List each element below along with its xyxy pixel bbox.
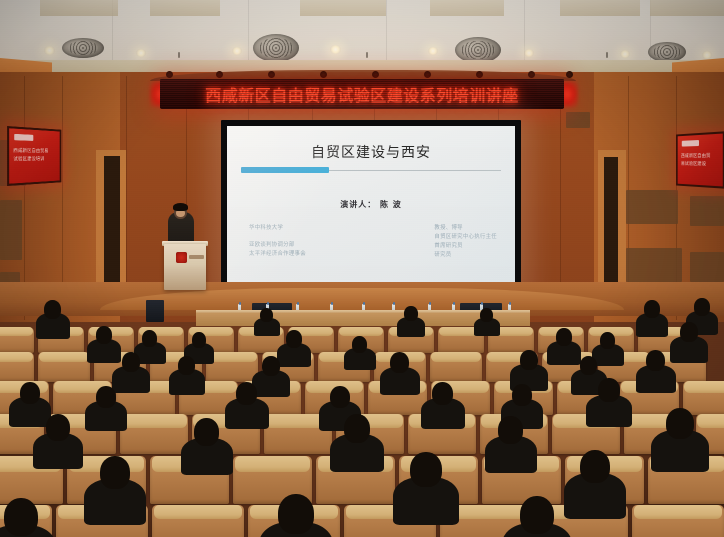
credential-left-0: 华中科技大学 bbox=[249, 224, 306, 233]
side-display-right-line-1: 易试验区建设 bbox=[681, 161, 719, 168]
side-display-right-line-0: 西咸新区自由贸 bbox=[681, 153, 719, 160]
audience-member-head bbox=[680, 322, 698, 342]
speaker-hair bbox=[173, 203, 188, 211]
truss-bolt-2 bbox=[268, 71, 275, 78]
audience-member-head bbox=[20, 382, 40, 404]
audience-member-head bbox=[498, 416, 523, 444]
audience-member-head bbox=[278, 494, 314, 534]
conference-hall-photo: 西咸新区自由贸易试验区建设系列培训讲座 自贸区建设与西安 演讲人： 陈 波 华中… bbox=[0, 0, 724, 537]
audience-member-head bbox=[330, 386, 350, 408]
audience-member-head bbox=[262, 356, 280, 376]
auditorium-seat bbox=[120, 414, 188, 454]
audience-member-head bbox=[260, 308, 273, 322]
side-display-right: 西咸新区自由贸 易试验区建设 bbox=[676, 131, 724, 188]
projection-screen-frame: 自贸区建设与西安 演讲人： 陈 波 华中科技大学 亚欧谈判协调分部 太平洋经济合… bbox=[221, 120, 521, 290]
audience-member-head bbox=[556, 328, 572, 346]
podium bbox=[164, 244, 206, 290]
audience-member-head bbox=[480, 308, 493, 322]
audience-member-head bbox=[666, 408, 694, 439]
ceiling-sprinkler-3 bbox=[480, 50, 482, 56]
audience-member-head bbox=[644, 300, 660, 318]
audience-member-head bbox=[100, 456, 130, 489]
wall-acoustic-panel-3 bbox=[626, 190, 678, 224]
audience-member-head bbox=[194, 418, 219, 446]
audience-member-head bbox=[178, 356, 195, 375]
auditorium-seat bbox=[632, 505, 724, 537]
projection-screen: 自贸区建设与西安 演讲人： 陈 波 华中科技大学 亚欧谈判协调分部 太平洋经济合… bbox=[227, 126, 515, 284]
audience-member-head bbox=[512, 384, 532, 406]
wall-acoustic-panel-4 bbox=[626, 248, 682, 282]
truss-bolt-3 bbox=[320, 71, 327, 78]
slide-credentials-right: 教授、博导 自贸区研究中心执行主任 首席研究员 研究员 bbox=[434, 224, 497, 260]
slide-credentials: 华中科技大学 亚欧谈判协调分部 太平洋经济合作理事会 教授、博导 自贸区研究中心… bbox=[249, 224, 497, 260]
audience-member-head bbox=[44, 300, 61, 319]
wall-acoustic-panel-7 bbox=[566, 112, 590, 128]
ceiling-downlight-3 bbox=[330, 45, 341, 54]
auditorium-seat bbox=[0, 327, 34, 353]
slide-title: 自贸区建设与西安 bbox=[227, 142, 515, 162]
audience-member-head bbox=[646, 350, 665, 371]
ceiling-downlight-0 bbox=[44, 46, 55, 55]
auditorium-seat bbox=[152, 505, 244, 537]
ceiling-downlight-1 bbox=[136, 49, 146, 57]
audience-member-head bbox=[520, 496, 554, 534]
wall-seam-2 bbox=[126, 76, 127, 306]
ceiling-air-vent-0 bbox=[62, 38, 104, 58]
audience-member-head bbox=[694, 298, 710, 316]
ceiling-downlight-4 bbox=[428, 47, 438, 55]
audience-member-head bbox=[580, 450, 610, 483]
ceiling-seam-2 bbox=[386, 0, 387, 62]
truss-bolt-8 bbox=[566, 71, 573, 78]
led-banner-text: 西咸新区自由贸易试验区建设系列培训讲座 bbox=[160, 79, 564, 109]
credential-left-2: 太平洋经济合作理事会 bbox=[249, 250, 306, 259]
ceiling-downlight-7 bbox=[702, 51, 712, 59]
side-display-left-logo bbox=[14, 134, 33, 141]
ceiling-downlight-6 bbox=[620, 50, 630, 58]
ceiling-air-vent-3 bbox=[648, 42, 686, 62]
audience-member-head bbox=[286, 330, 302, 348]
truss-bolt-1 bbox=[216, 71, 223, 78]
wall-acoustic-panel-6 bbox=[690, 252, 724, 282]
audience-member-head bbox=[580, 356, 597, 375]
side-display-left: 西咸新区自由贸易 试验区建设培训 bbox=[7, 126, 61, 186]
auditorium-seat bbox=[38, 352, 90, 382]
ceiling-seam-1 bbox=[248, 0, 249, 62]
credential-right-0: 教授、博导 bbox=[434, 224, 497, 233]
audience-member-head bbox=[96, 386, 116, 408]
auditorium-seat bbox=[0, 352, 34, 382]
credential-right-1: 自贸区研究中心执行主任 bbox=[434, 233, 497, 242]
side-display-left-line-1: 试验区建设培训 bbox=[13, 156, 56, 163]
audience-member-head bbox=[600, 332, 615, 349]
ceiling-strip-panel-0 bbox=[40, 0, 118, 16]
audience-member-head bbox=[352, 336, 367, 353]
ceiling-strip-panel-2 bbox=[300, 0, 386, 16]
ceiling-strip-panel-1 bbox=[150, 0, 220, 16]
auditorium-seat bbox=[430, 352, 482, 382]
truss-bolt-5 bbox=[424, 71, 431, 78]
ceiling-downlight-5 bbox=[524, 49, 534, 57]
audience-member-head bbox=[344, 414, 370, 443]
slide-speaker-line: 演讲人： 陈 波 bbox=[227, 199, 515, 210]
ceiling-strip-panel-3 bbox=[430, 0, 504, 16]
slide-accent-bar bbox=[241, 167, 329, 173]
truss-bolt-6 bbox=[476, 71, 483, 78]
audience-member-head bbox=[598, 378, 620, 402]
ceiling-air-vent-1 bbox=[253, 34, 299, 62]
audience-member-head bbox=[390, 352, 409, 373]
ceiling-sprinkler-2 bbox=[606, 52, 608, 58]
audience-member-head bbox=[4, 498, 38, 536]
podium-emblem bbox=[176, 252, 187, 263]
audience-member-head bbox=[142, 330, 157, 347]
podium-nameplate bbox=[189, 255, 204, 259]
ceiling-strip-panel-5 bbox=[650, 0, 724, 16]
wall-acoustic-panel-5 bbox=[690, 196, 724, 226]
truss-bolt-7 bbox=[528, 71, 535, 78]
audience-member-head bbox=[122, 352, 140, 372]
truss-bolt-4 bbox=[372, 71, 379, 78]
wall-acoustic-panel-1 bbox=[0, 200, 22, 260]
truss-bolt-0 bbox=[166, 71, 173, 78]
ceiling-sprinkler-0 bbox=[178, 52, 180, 58]
credential-left-1: 亚欧谈判协调分部 bbox=[249, 241, 306, 250]
wall-seam-9 bbox=[560, 78, 561, 300]
audience-member-head bbox=[46, 414, 70, 441]
audience-member-head bbox=[192, 332, 206, 348]
ceiling-downlight-2 bbox=[232, 47, 242, 55]
right-doorway bbox=[604, 157, 618, 302]
side-display-right-logo bbox=[682, 140, 699, 147]
left-doorway bbox=[104, 156, 120, 300]
audience-member-head bbox=[520, 350, 538, 370]
side-display-left-line-0: 西咸新区自由贸易 bbox=[13, 148, 56, 155]
audience-member-head bbox=[410, 452, 442, 487]
desk-monitor-2 bbox=[146, 300, 164, 322]
auditorium-seat bbox=[683, 381, 724, 415]
credential-right-3: 研究员 bbox=[434, 251, 497, 260]
audience-member-head bbox=[236, 382, 257, 405]
ceiling-sprinkler-1 bbox=[366, 52, 368, 58]
led-banner: 西咸新区自由贸易试验区建设系列培训讲座 bbox=[160, 79, 564, 109]
audience-member-head bbox=[404, 306, 418, 321]
audience-member-head bbox=[96, 326, 112, 344]
ceiling-strip-panel-4 bbox=[560, 0, 640, 16]
audience-member-head bbox=[432, 382, 453, 405]
slide-credentials-left: 华中科技大学 亚欧谈判协调分部 太平洋经济合作理事会 bbox=[249, 224, 306, 260]
credential-right-2: 首席研究员 bbox=[434, 242, 497, 251]
